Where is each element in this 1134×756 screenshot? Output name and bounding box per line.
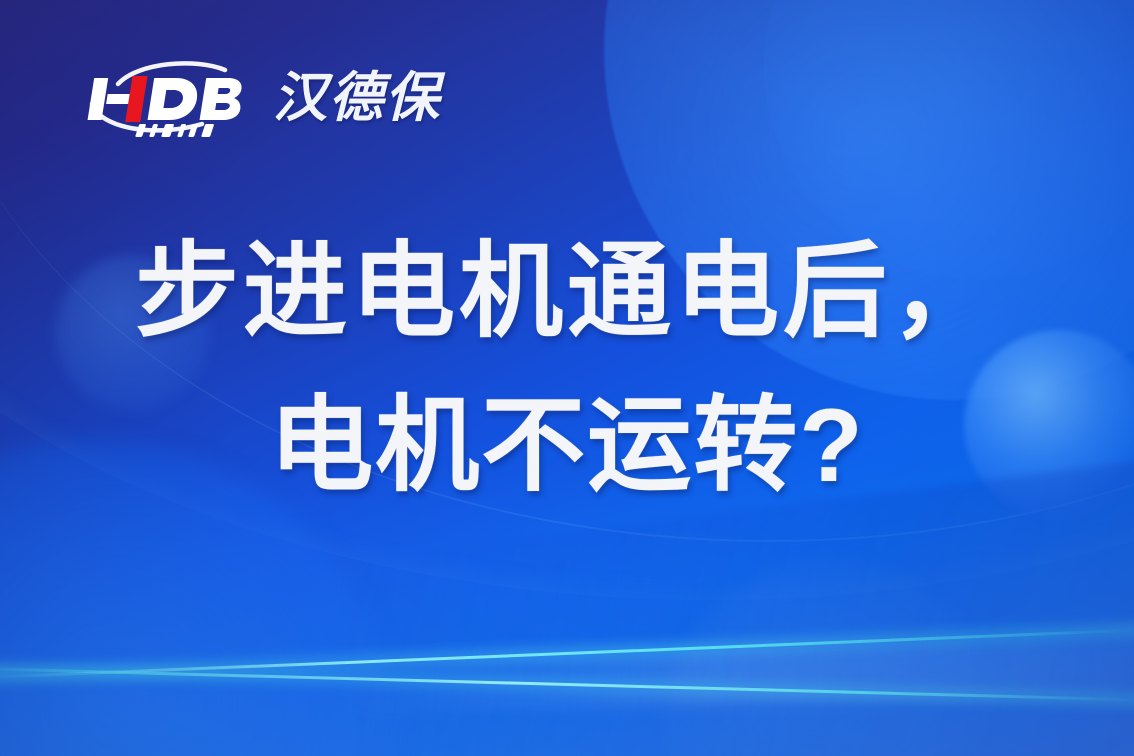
headline: 步进电机通电后， 电机不运转?	[0, 216, 1134, 524]
promo-banner: 汉德保 步进电机通电后， 电机不运转?	[0, 0, 1134, 756]
hdb-logo-icon	[84, 54, 259, 142]
background-cyan-streak-lower	[0, 665, 1134, 704]
headline-line-1: 步进电机通电后，	[0, 216, 1134, 370]
background-light-band	[340, 636, 1134, 713]
headline-line-2: 电机不运转?	[0, 370, 1134, 524]
brand-logo: 汉德保	[84, 54, 441, 142]
brand-name-chinese: 汉德保	[273, 71, 441, 125]
background-cyan-streak-upper	[0, 625, 1134, 682]
background-sphere-right-low	[664, 560, 994, 756]
